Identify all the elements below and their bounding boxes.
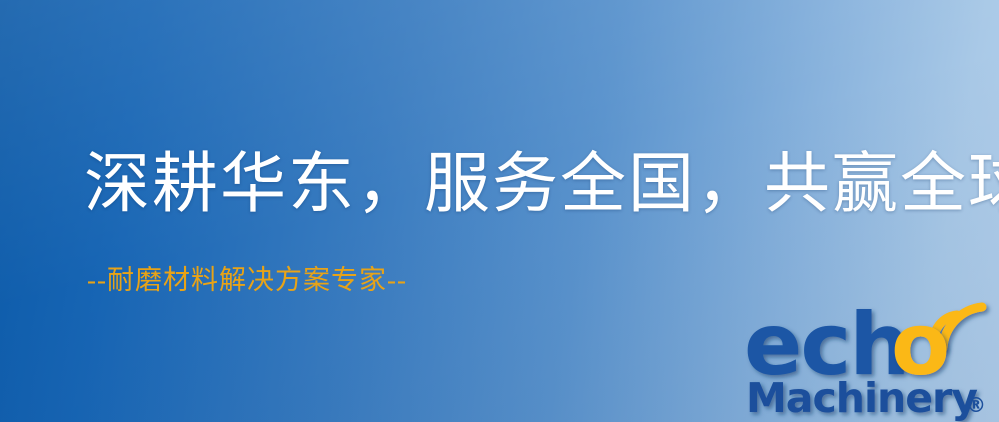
banner-subtitle: --耐磨材料解决方案专家-- (87, 267, 407, 294)
hero-banner: 深耕华东，服务全国，共赢全球 --耐磨材料解决方案专家-- ech o Mach… (0, 0, 999, 422)
banner-headline: 深耕华东，服务全国，共赢全球 (84, 152, 999, 218)
logo-wordmark-machinery: Machinery (746, 374, 977, 422)
echo-machinery-logo[interactable]: ech o Machinery ® (744, 296, 999, 422)
registered-trademark-icon: ® (966, 393, 986, 417)
